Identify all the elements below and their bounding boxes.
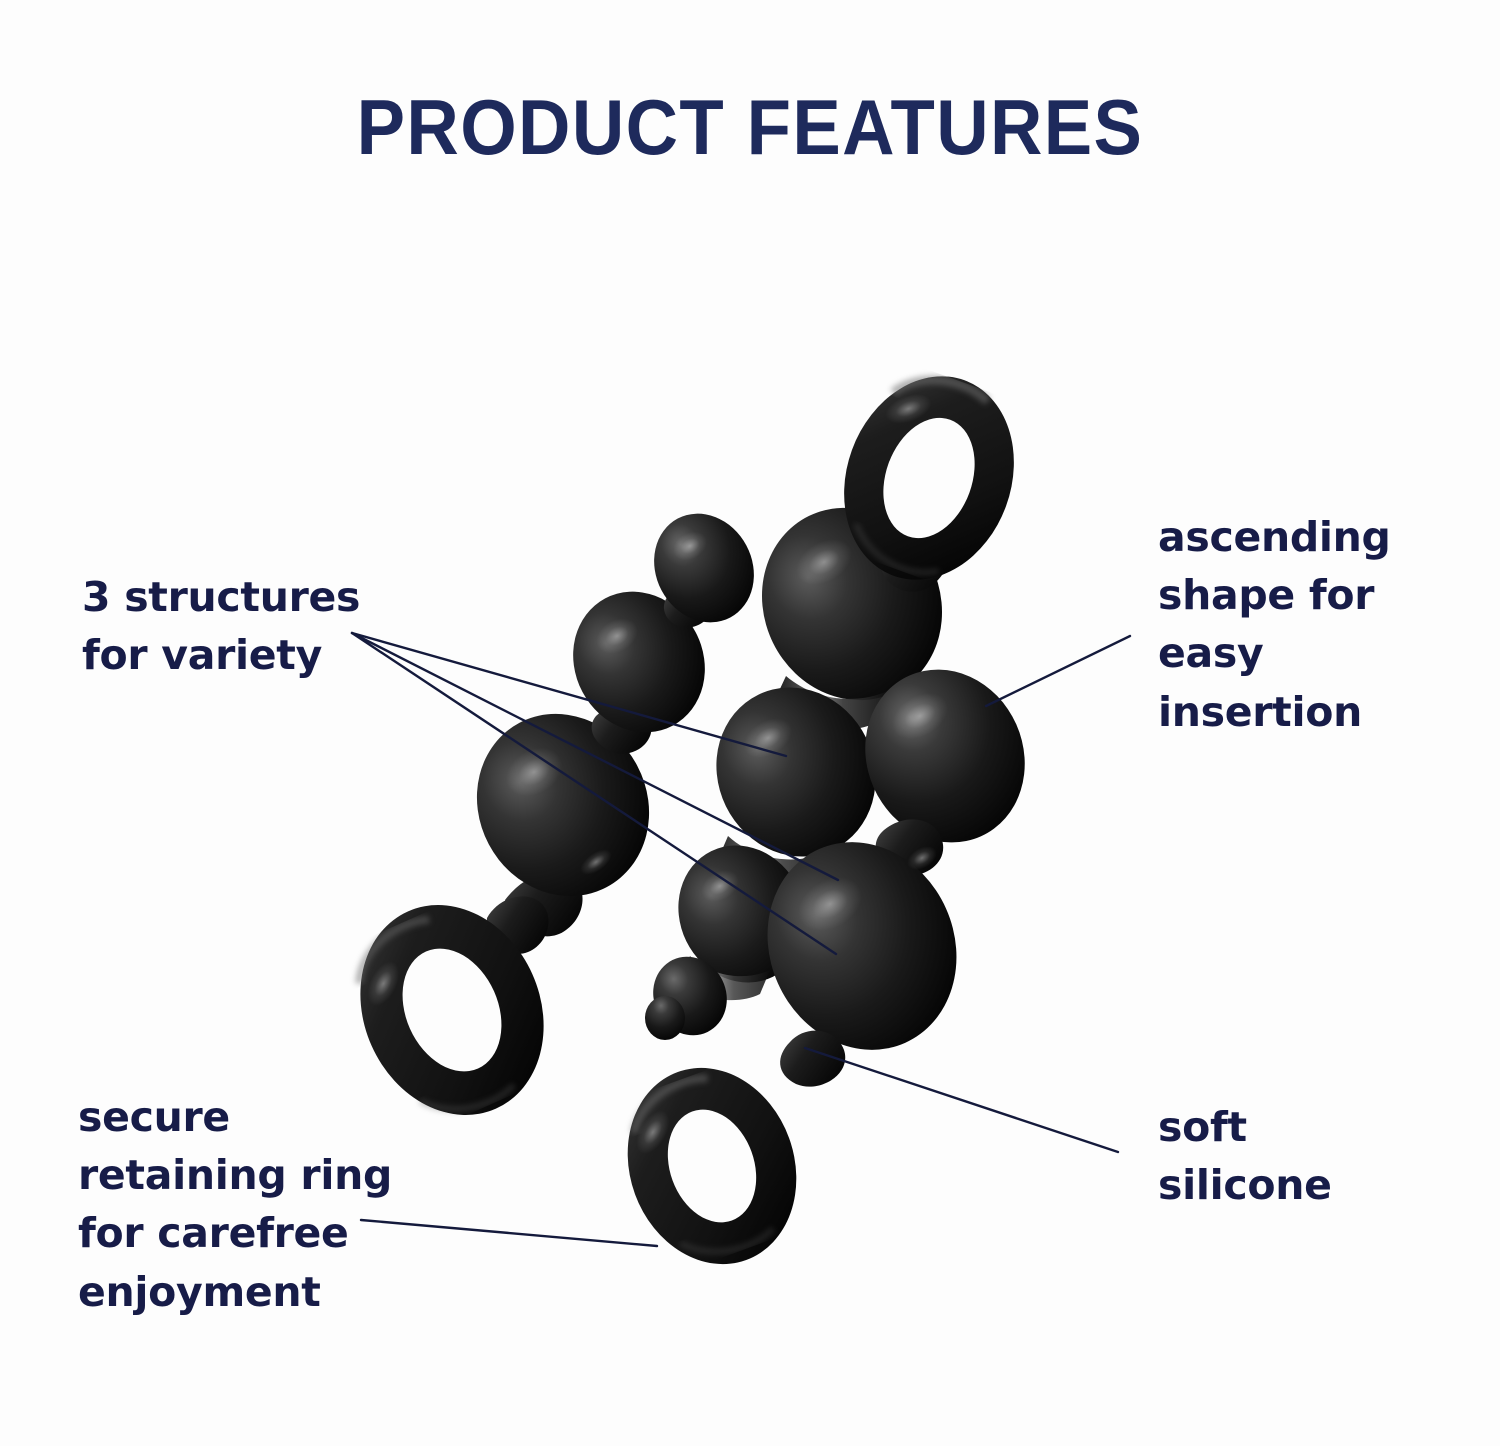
product-features-infographic: PRODUCT FEATURES xyxy=(0,0,1500,1446)
callout-ascending-shape-for-easy-insertion: ascending shape for easy insertion xyxy=(1158,508,1458,741)
callout-3-structures-for-variety: 3 structures for variety xyxy=(82,568,412,684)
callout-secure-retaining-ring-for-carefree-enjoyment: secure retaining ring for carefree enjoy… xyxy=(78,1088,418,1321)
callout-soft-silicone: soft silicone xyxy=(1158,1098,1418,1214)
retaining-ring-right xyxy=(601,1044,824,1288)
